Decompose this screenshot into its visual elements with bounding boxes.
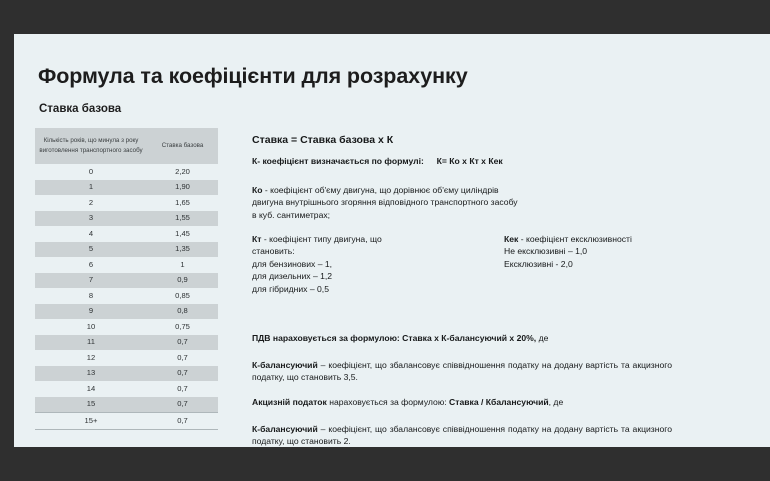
kek-line3: Ексклюзивні - 2,0 bbox=[504, 258, 632, 270]
formula-k-block: К- коефіцієнт визначається по формулі: К… bbox=[252, 156, 503, 168]
cell-rate: 1 bbox=[147, 257, 218, 273]
vat-heading-block: ПДВ нараховується за формулою: Ставка х … bbox=[252, 333, 548, 345]
table-row: 100,75 bbox=[35, 319, 218, 335]
table-row: 70,9 bbox=[35, 273, 218, 289]
table-row: 31,55 bbox=[35, 211, 218, 227]
kek-term: Кек bbox=[504, 234, 518, 244]
cell-years: 2 bbox=[35, 195, 147, 211]
cell-rate: 0,7 bbox=[147, 335, 218, 351]
vat-body-block: К-балансуючий – коефіцієнт, що збалансов… bbox=[252, 359, 672, 384]
kt-line1: - коефіцієнт типу двигуна, що bbox=[261, 234, 381, 244]
table-row: 21,65 bbox=[35, 195, 218, 211]
table-row: 15+0,7 bbox=[35, 413, 218, 430]
cell-years: 13 bbox=[35, 366, 147, 382]
cell-rate: 0,75 bbox=[147, 319, 218, 335]
ko-paragraph: Ко - коефіцієнт об'єму двигуна, що дорів… bbox=[252, 184, 518, 221]
cell-rate: 0,7 bbox=[147, 413, 218, 430]
ko-block: Ко - коефіцієнт об'єму двигуна, що дорів… bbox=[252, 184, 518, 221]
formula-k-line: К- коефіцієнт визначається по формулі: К… bbox=[252, 156, 503, 168]
ko-line1: - коефіцієнт об'єму двигуна, що дорівнює… bbox=[263, 185, 499, 195]
excise-heading-tail: , де bbox=[549, 397, 564, 407]
excise-heading-bold: Акцизній податок bbox=[252, 397, 327, 407]
base-rate-table: Кількість років, що минула з року вигото… bbox=[35, 128, 218, 430]
kek-paragraph: Кек - коефіцієнт ексклюзивності Не екскл… bbox=[504, 233, 632, 270]
column-header-rate: Ставка базова bbox=[147, 128, 218, 164]
cell-years: 5 bbox=[35, 242, 147, 258]
kek-line2: Не ексклюзивні – 1,0 bbox=[504, 245, 632, 257]
table-row: 150,7 bbox=[35, 397, 218, 413]
cell-rate: 0,7 bbox=[147, 350, 218, 366]
formula-k-value: К= Ко х Кт х Кек bbox=[437, 156, 503, 166]
cell-rate: 0,7 bbox=[147, 366, 218, 382]
formula-main-block: Ставка = Ставка базова х К bbox=[252, 134, 393, 148]
cell-rate: 1,45 bbox=[147, 226, 218, 242]
cell-years: 14 bbox=[35, 381, 147, 397]
formula-k-label: К- коефіцієнт визначається по формулі: bbox=[252, 156, 424, 166]
cell-years: 8 bbox=[35, 288, 147, 304]
vat-term: К-балансуючий bbox=[252, 360, 318, 370]
table-row: 130,7 bbox=[35, 366, 218, 382]
cell-years: 9 bbox=[35, 304, 147, 320]
table-row: 02,20 bbox=[35, 164, 218, 180]
excise-heading-bold2: Ставка / Кбалансуючий bbox=[449, 397, 549, 407]
slide: Формула та коефіцієнти для розрахунку Ст… bbox=[14, 34, 770, 447]
cell-rate: 1,65 bbox=[147, 195, 218, 211]
column-header-years: Кількість років, що минула з року вигото… bbox=[35, 128, 147, 164]
page-title: Формула та коефіцієнти для розрахунку bbox=[38, 64, 468, 89]
cell-rate: 1,90 bbox=[147, 180, 218, 196]
cell-years: 7 bbox=[35, 273, 147, 289]
cell-rate: 0,9 bbox=[147, 273, 218, 289]
cell-rate: 0,7 bbox=[147, 397, 218, 413]
table-body: 02,2011,9021,6531,5541,4551,356170,980,8… bbox=[35, 164, 218, 429]
cell-rate: 0,7 bbox=[147, 381, 218, 397]
table-row: 120,7 bbox=[35, 350, 218, 366]
kek-block: Кек - коефіцієнт ексклюзивності Не екскл… bbox=[504, 233, 632, 270]
cell-rate: 1,35 bbox=[147, 242, 218, 258]
table-row: 80,85 bbox=[35, 288, 218, 304]
kt-line5: для гібридних – 0,5 bbox=[252, 283, 382, 295]
kek-line1: - коефіцієнт ексклюзивності bbox=[518, 234, 632, 244]
cell-rate: 0,85 bbox=[147, 288, 218, 304]
table-row: 11,90 bbox=[35, 180, 218, 196]
table-row: 90,8 bbox=[35, 304, 218, 320]
excise-heading-mid: нараховується за формулою: bbox=[327, 397, 449, 407]
cell-years: 15 bbox=[35, 397, 147, 413]
cell-years: 3 bbox=[35, 211, 147, 227]
vat-heading-bold: ПДВ нараховується за формулою: Ставка х … bbox=[252, 333, 536, 343]
cell-years: 11 bbox=[35, 335, 147, 351]
cell-years: 0 bbox=[35, 164, 147, 180]
formula-main-line: Ставка = Ставка базова х К bbox=[252, 134, 393, 148]
excise-heading: Акцизній податок нараховується за формул… bbox=[252, 397, 563, 409]
cell-years: 6 bbox=[35, 257, 147, 273]
presentation-canvas: Формула та коефіцієнти для розрахунку Ст… bbox=[0, 0, 770, 481]
ko-term: Ко bbox=[252, 185, 263, 195]
kt-line4: для дизельних – 1,2 bbox=[252, 270, 382, 282]
kt-line2: становить: bbox=[252, 245, 382, 257]
cell-years: 1 bbox=[35, 180, 147, 196]
cell-years: 12 bbox=[35, 350, 147, 366]
excise-body: К-балансуючий – коефіцієнт, що збалансов… bbox=[252, 423, 672, 447]
kt-paragraph: Кт - коефіцієнт типу двигуна, що станови… bbox=[252, 233, 382, 295]
kt-block: Кт - коефіцієнт типу двигуна, що станови… bbox=[252, 233, 382, 295]
kt-line3: для бензинових – 1, bbox=[252, 258, 382, 270]
cell-years: 15+ bbox=[35, 413, 147, 430]
vat-heading-tail: де bbox=[536, 333, 548, 343]
vat-heading: ПДВ нараховується за формулою: Ставка х … bbox=[252, 333, 548, 345]
cell-rate: 1,55 bbox=[147, 211, 218, 227]
table-row: 110,7 bbox=[35, 335, 218, 351]
excise-term: К-балансуючий bbox=[252, 424, 318, 434]
table-row: 61 bbox=[35, 257, 218, 273]
cell-years: 4 bbox=[35, 226, 147, 242]
table-row: 140,7 bbox=[35, 381, 218, 397]
table-row: 51,35 bbox=[35, 242, 218, 258]
ko-line2: двигуна внутрішнього згоряння відповідно… bbox=[252, 196, 518, 208]
section-subtitle: Ставка базова bbox=[39, 103, 121, 115]
cell-years: 10 bbox=[35, 319, 147, 335]
cell-rate: 0,8 bbox=[147, 304, 218, 320]
excise-body-block: К-балансуючий – коефіцієнт, що збалансов… bbox=[252, 423, 672, 447]
table-header: Кількість років, що минула з року вигото… bbox=[35, 128, 218, 164]
cell-rate: 2,20 bbox=[147, 164, 218, 180]
vat-body: К-балансуючий – коефіцієнт, що збалансов… bbox=[252, 359, 672, 384]
table-row: 41,45 bbox=[35, 226, 218, 242]
excise-heading-block: Акцизній податок нараховується за формул… bbox=[252, 397, 563, 409]
ko-line3: в куб. сантиметрах; bbox=[252, 209, 518, 221]
table-header-row: Кількість років, що минула з року вигото… bbox=[35, 128, 218, 164]
